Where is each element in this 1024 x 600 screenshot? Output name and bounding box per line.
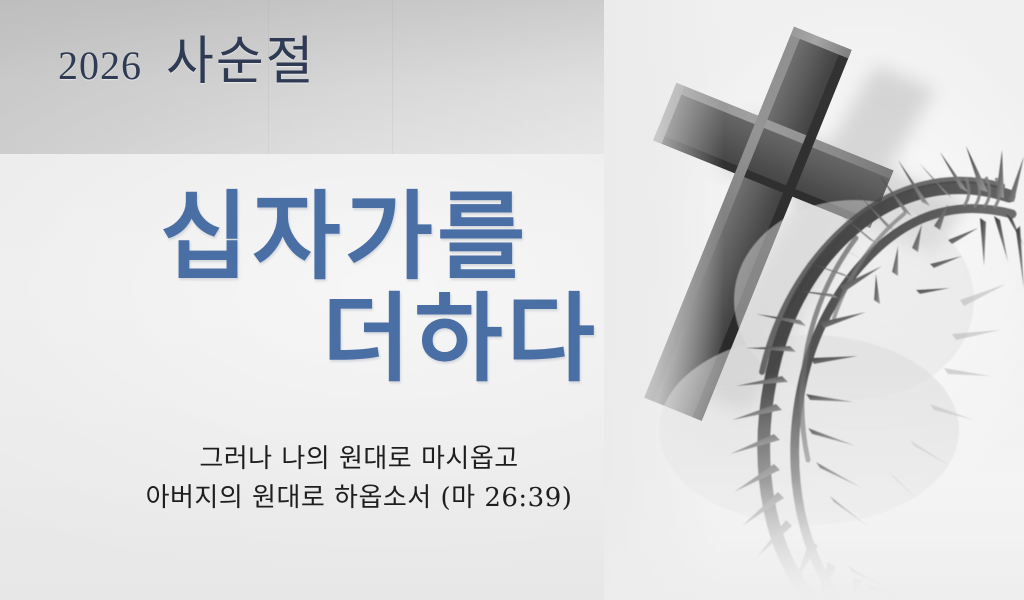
poster-year: 2026 [58,46,142,86]
poster-kicker: 2026 사순절 [58,36,316,88]
headline-line-2: 더하다 [0,288,700,390]
photo-bottom-blend [604,480,1024,600]
headline-line-1: 십자가를 [0,186,700,288]
cross-photo [604,0,1024,600]
poster-season: 사순절 [166,36,316,88]
page-title: 십자가를 더하다 [0,186,700,390]
lent-poster: 2026 사순절 십자가를 더하다 그러나 나의 원대로 마시옵고 아버지의 원… [0,0,1024,600]
